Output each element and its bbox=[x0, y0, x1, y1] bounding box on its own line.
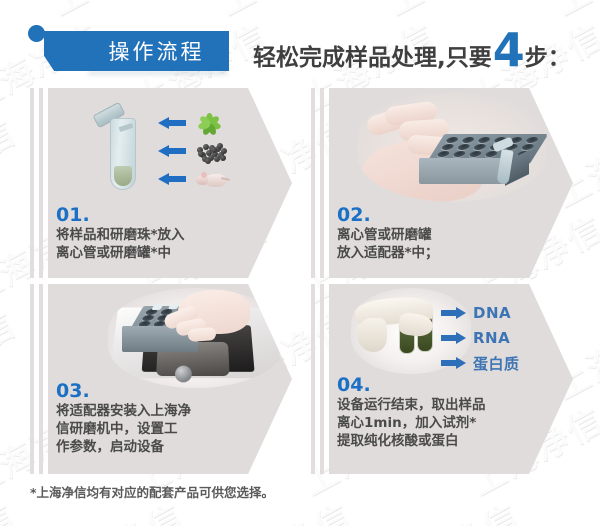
header: 操作流程 轻松完成样品处理,只要 4 步： bbox=[0, 0, 600, 84]
mouse-sample-icon bbox=[196, 169, 228, 189]
adapter-well bbox=[436, 151, 451, 157]
steps-grid: 01. 将样品和研磨珠*放入 离心管或研磨罐*中 bbox=[0, 88, 600, 486]
step-card-1: 01. 将样品和研磨珠*放入 离心管或研磨罐*中 bbox=[30, 88, 292, 278]
adapter-well bbox=[440, 144, 455, 150]
adapter-well bbox=[520, 144, 535, 150]
accent-bar-inner bbox=[39, 88, 43, 278]
output-label-dna: DNA bbox=[473, 304, 511, 322]
grinding-beads-icon bbox=[196, 141, 226, 161]
tagline-step-count: 4 bbox=[493, 27, 524, 73]
arrow-left-icon bbox=[158, 145, 186, 158]
adapter-well bbox=[445, 137, 460, 143]
arrow-right-icon bbox=[441, 307, 466, 319]
watermark-text: 上海净信 bbox=[0, 489, 23, 526]
output-label-protein: 蛋白质 bbox=[473, 353, 520, 374]
leaf-sample-icon bbox=[196, 111, 222, 135]
tagline-suffix: 步： bbox=[525, 47, 571, 70]
step-number-3: 03. bbox=[56, 380, 90, 402]
arrow-right-icon bbox=[441, 357, 466, 369]
adapter-block-icon bbox=[435, 134, 539, 186]
watermark-text: 上海净信 bbox=[545, 489, 600, 526]
adapter-well bbox=[472, 144, 487, 150]
step-description-4: 设备运行结束，取出样品 离心1min，加入试剂* 提取纯化核酸或蛋白 bbox=[337, 397, 486, 450]
arrow-left-icon bbox=[158, 117, 186, 130]
watermark-text: 上海净信 bbox=[377, 489, 527, 526]
header-tagline: 轻松完成样品处理,只要 4 步： bbox=[253, 27, 571, 73]
photo-tube-into-adapter bbox=[357, 92, 547, 202]
step-description-1: 将样品和研磨珠*放入 离心管或研磨罐*中 bbox=[56, 227, 185, 263]
centrifuge-tube-icon bbox=[110, 110, 136, 190]
accent-bar-inner bbox=[320, 284, 324, 474]
arrow-right-icon bbox=[441, 332, 466, 344]
adapter-well bbox=[461, 137, 476, 143]
output-row-protein: 蛋白质 bbox=[441, 352, 520, 374]
step-description-3: 将适配器安装入上海净 信研磨机中，设置工 作参数，启动设备 bbox=[56, 403, 191, 456]
adapter-well bbox=[456, 144, 471, 150]
input-row-leaf bbox=[158, 112, 278, 134]
input-row-beads bbox=[158, 140, 278, 162]
step-description-2: 离心管或研磨罐 放入适配器*中； bbox=[337, 227, 439, 263]
output-row-rna: RNA bbox=[441, 327, 510, 349]
adapter-well bbox=[452, 151, 467, 157]
input-arrow-rows bbox=[158, 110, 278, 192]
accent-bar-inner bbox=[39, 284, 43, 474]
step-number-4: 04. bbox=[337, 374, 371, 396]
output-row-dna: DNA bbox=[441, 302, 511, 324]
input-row-mouse bbox=[158, 168, 278, 190]
tube-liquid bbox=[114, 166, 132, 186]
adapter-well bbox=[525, 137, 540, 143]
footnote-text: *上海净信均有对应的配套产品可供您选择。 bbox=[30, 482, 274, 501]
step-card-2: 02. 离心管或研磨罐 放入适配器*中； bbox=[311, 88, 573, 278]
accent-bar-outer bbox=[30, 88, 34, 278]
accent-bar-outer bbox=[311, 284, 315, 474]
banner-shadow bbox=[88, 71, 228, 75]
accent-bar-outer bbox=[311, 88, 315, 278]
photo-adapter-into-grinder bbox=[108, 288, 284, 388]
tube-body-icon bbox=[110, 118, 136, 190]
infographic-page: 操作流程 轻松完成样品处理,只要 4 步： bbox=[0, 0, 600, 526]
section-banner-label: 操作流程 bbox=[109, 36, 205, 66]
gloved-hand-icon bbox=[355, 294, 451, 356]
output-label-rna: RNA bbox=[473, 329, 510, 347]
adapter-well bbox=[484, 151, 499, 157]
adapter-well bbox=[477, 137, 492, 143]
section-banner: 操作流程 bbox=[84, 31, 229, 71]
accent-bar-outer bbox=[30, 284, 34, 474]
adapter-well bbox=[468, 151, 483, 157]
step-number-1: 01. bbox=[56, 204, 90, 226]
arrow-left-icon bbox=[158, 173, 186, 186]
accent-bar-inner bbox=[320, 88, 324, 278]
tagline-prefix: 轻松完成样品处理,只要 bbox=[253, 47, 492, 70]
banner-dot-icon bbox=[28, 25, 45, 42]
step-card-4: DNA RNA 蛋白质 04. 设备运行结束，取出样品 离心1min，加入试 bbox=[311, 284, 573, 474]
hand-icon bbox=[162, 290, 252, 346]
step-card-3: 03. 将适配器安装入上海净 信研磨机中，设置工 作参数，启动设备 bbox=[30, 284, 292, 474]
output-rows: DNA RNA 蛋白质 bbox=[441, 302, 571, 376]
step-number-2: 02. bbox=[337, 204, 371, 226]
